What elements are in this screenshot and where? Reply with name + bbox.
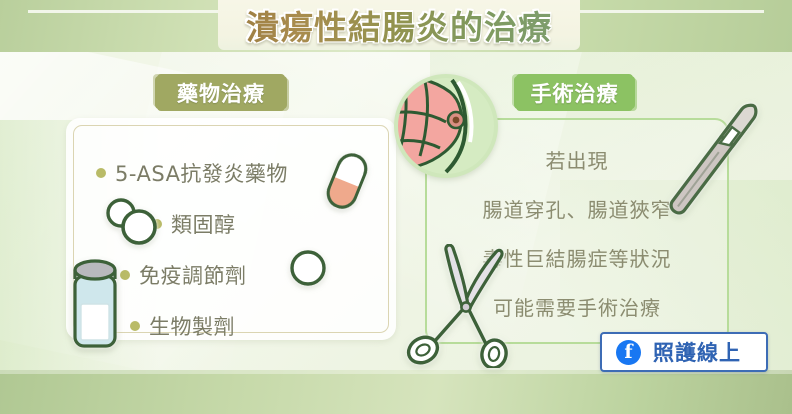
list-item: 生物製劑 [130, 311, 396, 341]
list-item-label: 生物製劑 [149, 311, 235, 341]
scalpel-icon [648, 92, 776, 232]
brand-name: 照護線上 [653, 337, 741, 367]
bullet-icon [96, 168, 106, 178]
tablet-rings-icon [102, 196, 166, 248]
brand-badge[interactable]: f 照護線上 [600, 332, 768, 372]
bullet-icon [130, 321, 140, 331]
list-item-label: 5-ASA抗發炎藥物 [115, 158, 288, 188]
tablet-ring-icon [288, 248, 328, 288]
colon-illustration-icon [394, 74, 498, 178]
infographic-canvas: 潰瘍性結腸炎的治療 藥物治療 5-ASA抗發炎藥物 類固醇 免疫調節劑 生物製劑 [0, 0, 792, 414]
medicine-vial-icon [62, 248, 128, 352]
facebook-icon[interactable]: f [616, 340, 641, 365]
list-item-label: 免疫調節劑 [139, 260, 247, 290]
page-title: 潰瘍性結腸炎的治療 [218, 2, 580, 48]
list-item: 類固醇 [152, 209, 396, 239]
surgical-treatment-banner: 手術治療 [516, 76, 633, 109]
list-item-label: 類固醇 [171, 209, 236, 239]
drug-treatment-banner: 藥物治療 [157, 76, 285, 109]
bottom-green-band [0, 370, 792, 414]
surgical-scissors-icon [404, 244, 528, 368]
list-item: 免疫調節劑 [120, 260, 396, 290]
